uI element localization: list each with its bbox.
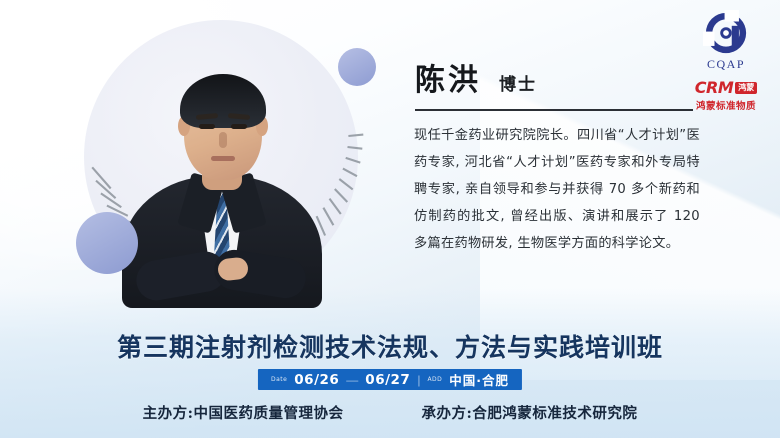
- crm-logo-icon: CRM 鸿蒙: [680, 78, 772, 97]
- bar-divider: |: [417, 373, 420, 387]
- crm-logo-sublabel: 鸿蒙标准物质: [680, 98, 772, 112]
- figure-hair: [180, 74, 266, 128]
- date-end: 06/27: [365, 372, 410, 388]
- name-divider: [415, 109, 693, 111]
- address-tag-label: ADD: [427, 376, 442, 383]
- figure-mouth: [211, 156, 235, 161]
- crm-logo-label: CRM: [695, 78, 733, 97]
- speaker-name-row: 陈洪 博士: [415, 55, 537, 99]
- figure-nose: [219, 132, 227, 148]
- co-organizer-organization: 承办方:合肥鸿蒙标准技术研究院: [422, 402, 638, 423]
- organizer-row: 主办方:中国医药质量管理协会 承办方:合肥鸿蒙标准技术研究院: [0, 402, 780, 423]
- date-dash: —: [346, 373, 358, 387]
- cqap-logo-icon: [703, 10, 749, 56]
- poster-canvas: 陈洪 博士 现任千金药业研究院院长。四川省“人才计划”医药专家, 河北省“人才计…: [0, 0, 780, 438]
- crm-logo-badge: 鸿蒙: [735, 82, 757, 94]
- logo-group: CQAP CRM 鸿蒙 鸿蒙标准物质: [680, 10, 772, 112]
- speaker-portrait: [62, 12, 392, 324]
- event-city: 中国·合肥: [449, 370, 509, 389]
- date-tag-label: Date: [271, 376, 287, 383]
- event-title: 第三期注射剂检测技术法规、方法与实践培训班: [0, 328, 780, 364]
- decor-circle-large: [76, 212, 138, 274]
- event-date-location-bar: Date 06/26 — 06/27 | ADD 中国·合肥: [258, 369, 522, 390]
- speaker-name: 陈洪: [415, 55, 481, 99]
- speaker-figure: [122, 40, 322, 308]
- figure-eye-right: [231, 124, 247, 129]
- date-start: 06/26: [294, 372, 339, 388]
- speaker-bio: 现任千金药业研究院院长。四川省“人才计划”医药专家, 河北省“人才计划”医药专家…: [414, 122, 700, 257]
- speaker-degree: 博士: [499, 70, 537, 95]
- cqap-logo-label: CQAP: [680, 57, 772, 72]
- host-organization: 主办方:中国医药质量管理协会: [143, 402, 344, 423]
- decor-circle-small: [338, 48, 376, 86]
- figure-eye-left: [199, 124, 215, 129]
